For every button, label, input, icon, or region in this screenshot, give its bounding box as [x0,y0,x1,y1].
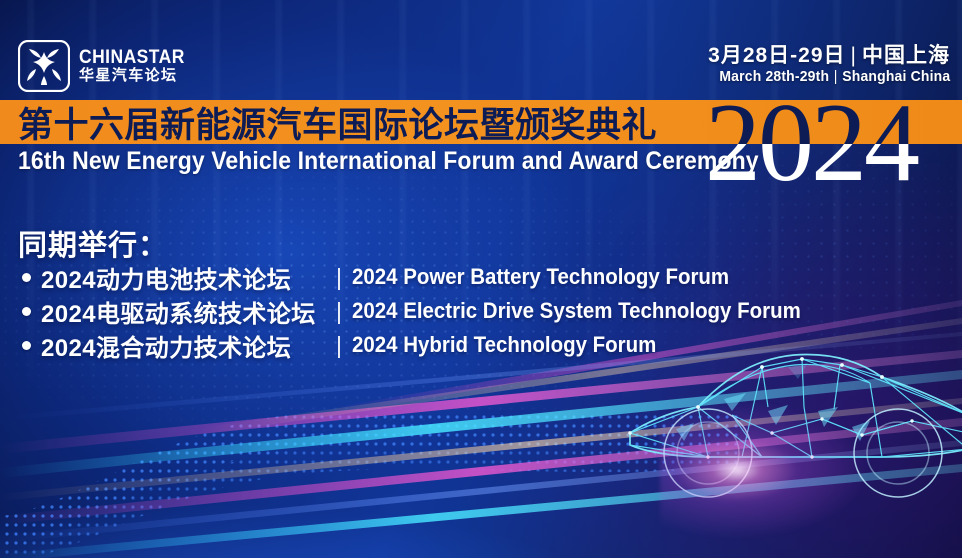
forum-name-en: 2024 Hybrid Technology Forum [352,332,656,358]
concurrent-forum-list: 2024动力电池技术论坛 | 2024 Power Battery Techno… [22,262,835,360]
concurrent-events-heading: 同期举行： [18,222,168,264]
brand-name-en: CHINASTAR [79,48,185,67]
event-location-cn: 中国上海 [862,44,950,67]
event-date-cn: 3月28日-29日 [708,44,845,67]
list-item[interactable]: 2024电驱动系统技术论坛 | 2024 Electric Drive Syst… [22,296,835,326]
forum-separator: | [326,332,352,359]
event-title-en: 16th New Energy Vehicle International Fo… [18,147,759,176]
list-item[interactable]: 2024动力电池技术论坛 | 2024 Power Battery Techno… [22,262,835,292]
forum-name-cn: 2024动力电池技术论坛 [41,260,326,295]
forum-name-en: 2024 Electric Drive System Technology Fo… [352,298,801,324]
bullet-icon [22,307,31,316]
forum-name-cn: 2024混合动力技术论坛 [41,328,326,363]
event-date-en-line: March 28th-29th|Shanghai China [719,68,950,87]
chinastar-star-logo-icon [18,40,70,92]
forum-separator: | [326,264,352,291]
conference-banner: CHINASTAR 华星汽车论坛 3月28日-29日|中国上海 March 28… [0,0,962,558]
forum-name-cn: 2024电驱动系统技术论坛 [41,294,326,329]
event-title-cn: 第十六届新能源汽车国际论坛暨颁奖典礼 [18,101,657,143]
event-location-en: Shanghai China [842,68,950,85]
date-separator-cn: | [846,44,862,68]
event-date-cn-line: 3月28日-29日|中国上海 [702,44,950,68]
brand-logo[interactable]: CHINASTAR 华星汽车论坛 [18,40,194,92]
bottom-glow [0,468,962,558]
forum-separator: | [326,298,352,325]
list-item[interactable]: 2024混合动力技术论坛 | 2024 Hybrid Technology Fo… [22,330,835,360]
event-date-en: March 28th-29th [719,68,829,85]
bullet-icon [22,273,31,282]
bullet-icon [22,341,31,350]
date-separator-en: | [829,68,842,87]
event-date-location: 3月28日-29日|中国上海 March 28th-29th|Shanghai … [702,44,950,87]
brand-name-cn: 华星汽车论坛 [79,68,194,85]
forum-name-en: 2024 Power Battery Technology Forum [352,264,729,290]
